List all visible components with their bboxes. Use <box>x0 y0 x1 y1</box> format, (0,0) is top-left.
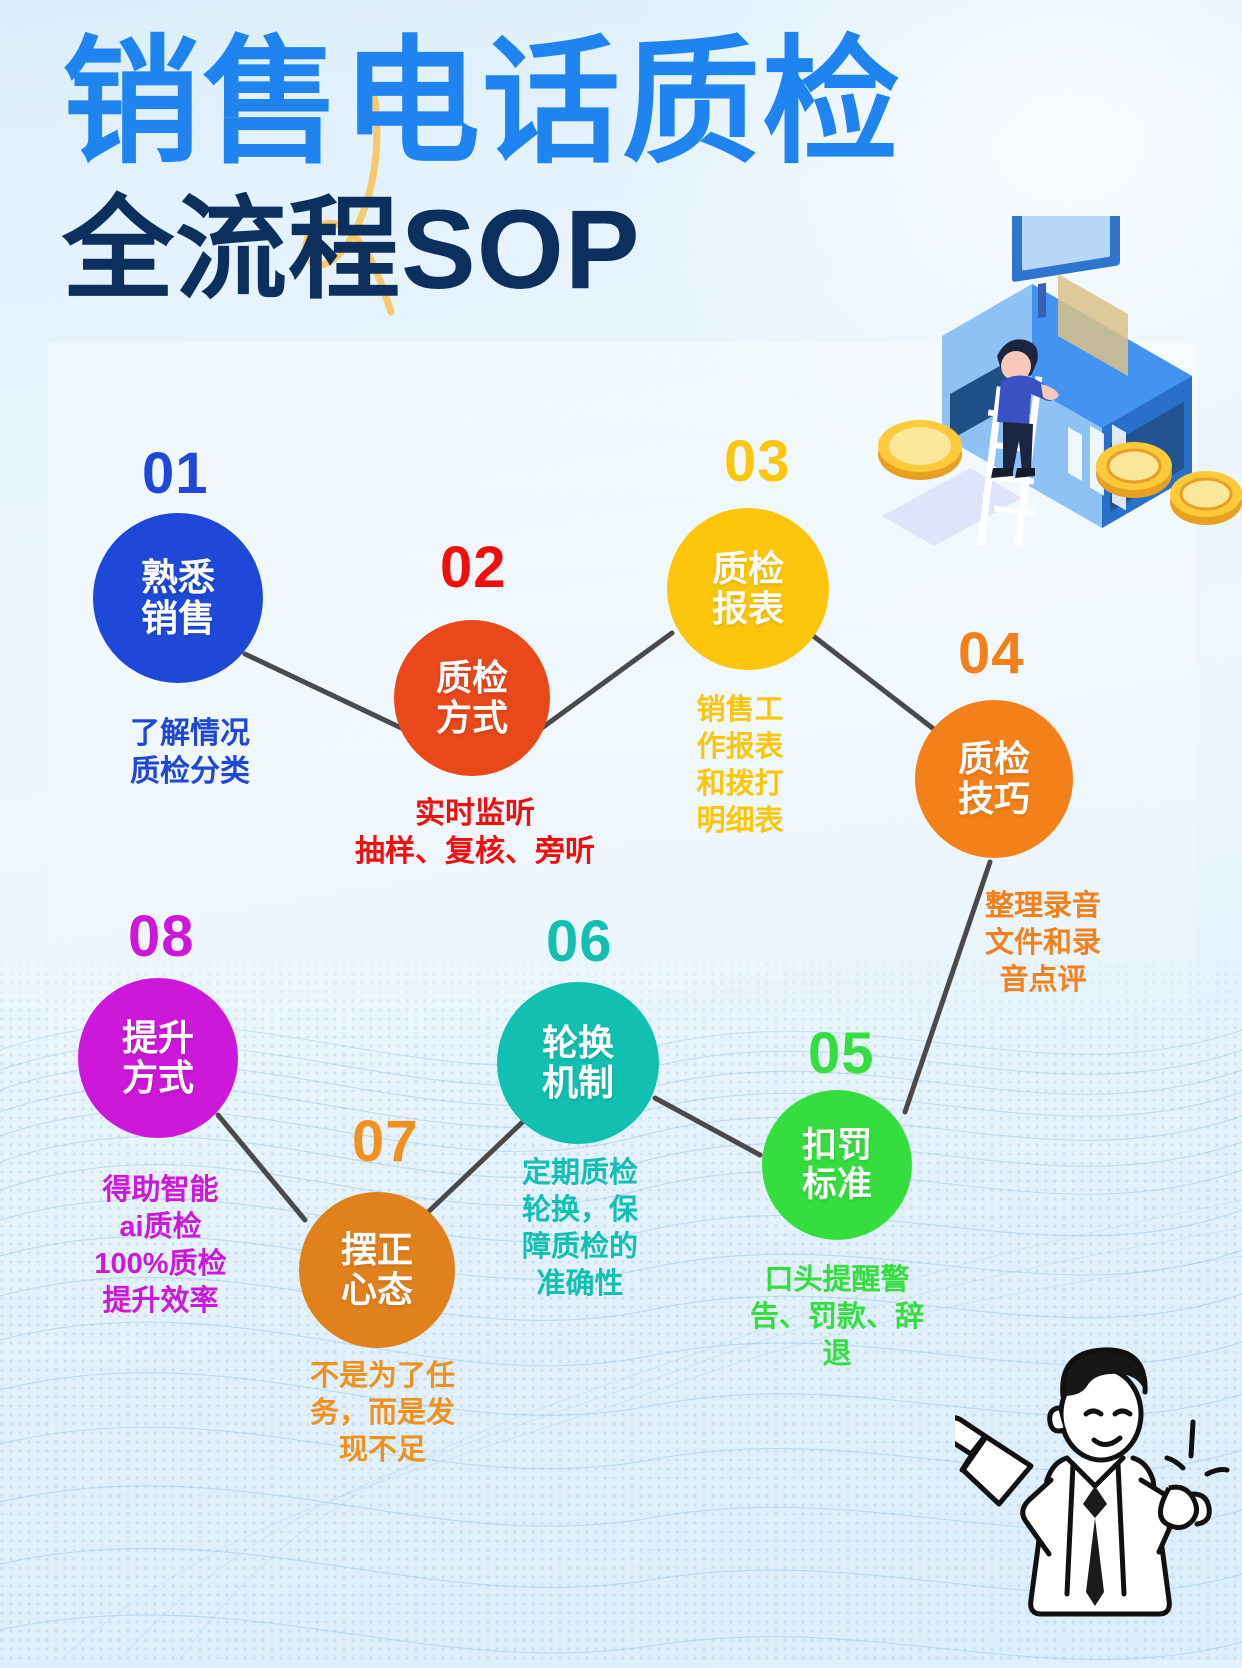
step-caption-03: 销售工 作报表 和拨打 明细表 <box>670 692 810 840</box>
step-caption-01: 了解情况 质检分类 <box>100 715 280 792</box>
step-node-label-08: 提升 方式 <box>122 1018 194 1099</box>
step-number-05: 05 <box>808 1020 875 1087</box>
step-node-label-06: 轮换 机制 <box>542 1023 614 1104</box>
step-caption-06: 定期质检 轮换，保 障质检的 准确性 <box>505 1155 655 1303</box>
step-node-label-05: 扣罚 标准 <box>802 1126 872 1204</box>
step-node-01[interactable]: 熟悉 销售 <box>93 513 263 683</box>
step-caption-05: 口头提醒警 告、罚款、辞 退 <box>722 1262 952 1373</box>
step-number-03: 03 <box>724 428 791 495</box>
step-node-label-01: 熟悉 销售 <box>141 557 215 640</box>
step-number-08: 08 <box>128 903 195 970</box>
step-node-07[interactable]: 摆正 心态 <box>299 1192 455 1348</box>
step-node-08[interactable]: 提升 方式 <box>78 978 238 1138</box>
sop-flow-diagram: 01 熟悉 销售 了解情况 质检分类 02 质检 方式 实时监听 抽样、复核、旁… <box>0 0 1242 1660</box>
step-caption-08: 得助智能 ai质检 100%质检 提升效率 <box>68 1172 253 1320</box>
step-node-label-04: 质检 技巧 <box>958 739 1030 820</box>
step-number-02: 02 <box>440 534 507 601</box>
step-node-06[interactable]: 轮换 机制 <box>497 982 659 1144</box>
step-node-04[interactable]: 质检 技巧 <box>915 700 1073 858</box>
step-node-03[interactable]: 质检 报表 <box>667 508 829 670</box>
step-number-06: 06 <box>546 908 613 975</box>
step-number-04: 04 <box>958 620 1025 687</box>
step-node-05[interactable]: 扣罚 标准 <box>762 1090 912 1240</box>
step-node-label-02: 质检 方式 <box>436 658 508 739</box>
step-caption-07: 不是为了任 务，而是发 现不足 <box>290 1358 475 1469</box>
step-number-07: 07 <box>352 1108 419 1175</box>
step-node-label-03: 质检 报表 <box>712 549 784 630</box>
step-node-02[interactable]: 质检 方式 <box>394 620 550 776</box>
step-caption-04: 整理录音 文件和录 音点评 <box>938 888 1148 999</box>
step-caption-02: 实时监听 抽样、复核、旁听 <box>325 795 625 872</box>
step-number-01: 01 <box>142 440 209 507</box>
step-node-label-07: 摆正 心态 <box>341 1230 413 1311</box>
